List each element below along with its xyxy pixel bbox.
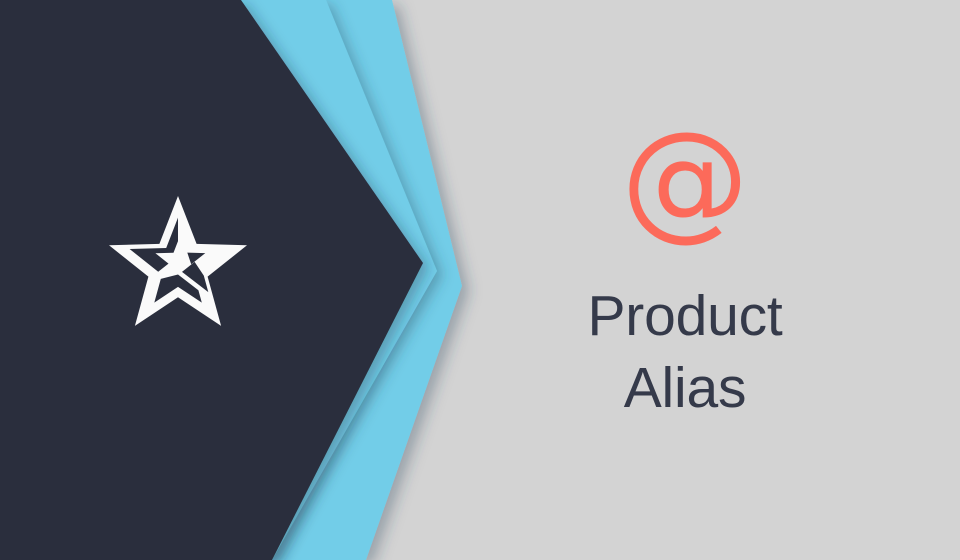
slide-canvas: @ Product Alias	[0, 0, 960, 560]
page-title: Product Alias	[587, 280, 782, 424]
star-outline-slash-icon	[109, 196, 247, 326]
star-logo	[108, 194, 248, 328]
at-symbol-container: @	[621, 118, 749, 242]
title-line-alias: Alias	[587, 352, 782, 424]
content-panel: @ Product Alias	[470, 0, 900, 560]
title-line-product: Product	[587, 280, 782, 352]
at-sign-icon: @	[621, 116, 749, 244]
